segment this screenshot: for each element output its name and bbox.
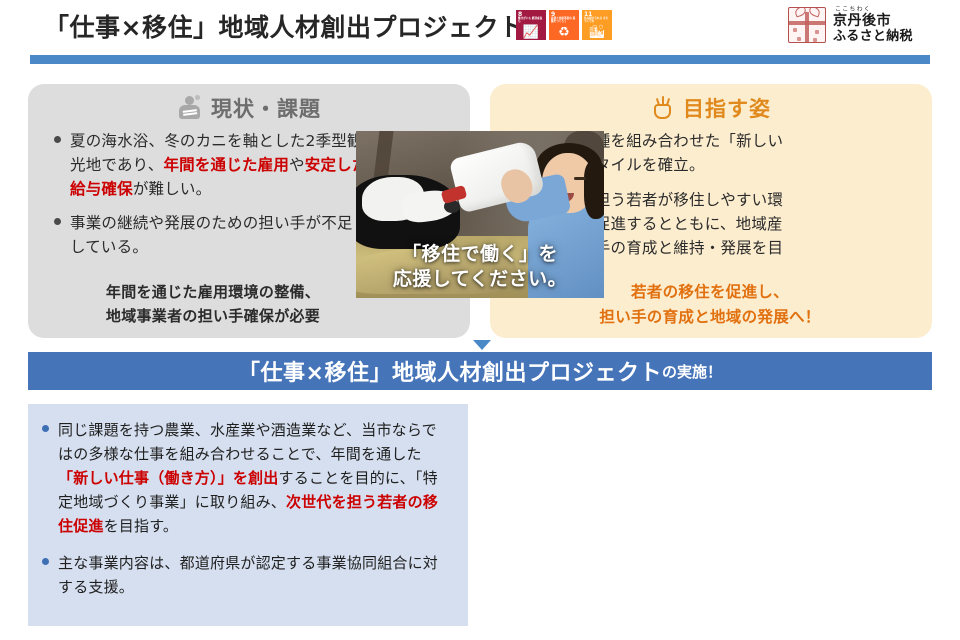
logo-ruby: ここちわく xyxy=(835,4,913,13)
sdg-chart-icon: 📈 xyxy=(516,26,546,39)
goals-heading: 目指す姿 xyxy=(490,84,932,123)
sdg-badge-9: 9 産業と技術革新の 基盤をつくろう ♻ xyxy=(549,10,579,40)
current-issues-summary: 年間を通じた雇用環境の整備、地域事業者の担い手確保が必要 xyxy=(68,280,358,328)
logo-text-block: ここちわく 京丹後市 ふるさと納税 xyxy=(833,4,913,45)
plain-text: や xyxy=(289,156,305,174)
bullet-dot xyxy=(42,425,49,432)
bullet-text: 主な事業内容は、都道府県が認定する事業協同組合に対する支援。 xyxy=(58,551,440,599)
emphasized-text: 「新しい仕事（働き方）」を創出 xyxy=(58,469,279,487)
project-details-panel: 同じ課題を持つ農業、水産業や酒造業など、当市ならではの多様な仕事を組み合わせるこ… xyxy=(28,404,468,626)
project-details-bullets: 同じ課題を持つ農業、水産業や酒造業など、当市ならではの多様な仕事を組み合わせるこ… xyxy=(28,404,468,599)
sdg-badge-11: 11 住み続けられる まちづくりを 🏙 xyxy=(582,10,612,40)
header-divider-bar xyxy=(30,55,930,64)
photo-caption-line2: 応援してください。 xyxy=(356,267,604,293)
gift-box-icon xyxy=(788,7,826,43)
photo-caption-line1: 「移住で働く」を xyxy=(356,242,604,268)
sdg-badge-label: 住み続けられる まちづくりを xyxy=(582,18,612,24)
plain-text: 同じ課題を持つ農業、水産業や酒造業など、当市ならではの多様な仕事を組み合わせるこ… xyxy=(58,421,437,463)
city-logo: ここちわく 京丹後市 ふるさと納税 xyxy=(788,4,938,48)
sdg-badge-label: 産業と技術革新の 基盤をつくろう xyxy=(549,18,579,24)
emphasized-text: 年間を通じた雇用 xyxy=(163,156,289,174)
bullet-dot xyxy=(42,558,49,565)
banner-main-label: 「仕事×移住」地域人材創出プロジェクト xyxy=(238,355,662,387)
list-item: 同じ課題を持つ農業、水産業や酒造業など、当市ならではの多様な仕事を組み合わせるこ… xyxy=(42,418,452,538)
list-item: 主な事業内容は、都道府県が認定する事業協同組合に対する支援。 xyxy=(42,551,452,599)
slide-header: 「仕事×移住」地域人材創出プロジェクト 8 働きがいも 経済成長も 📈 9 産業… xyxy=(0,0,960,50)
bullet-dot xyxy=(54,136,61,143)
banner-suffix-label: の実施！ xyxy=(662,361,722,382)
bullet-text: 夏の海水浴、冬のカニを軸とした2季型観光地であり、年間を通じた雇用や安定した給与… xyxy=(70,129,368,201)
bullet-text: 同じ課題を持つ農業、水産業や酒造業など、当市ならではの多様な仕事を組み合わせるこ… xyxy=(58,418,440,538)
plain-text: が難しい。 xyxy=(133,180,212,198)
plain-text: を目指す。 xyxy=(104,517,179,535)
project-banner: 「仕事×移住」地域人材創出プロジェクト の実施！ xyxy=(28,352,932,390)
down-arrow-icon xyxy=(473,340,491,350)
logo-city-name: 京丹後市 xyxy=(833,13,913,29)
pointing-hand-icon xyxy=(651,95,675,121)
bullet-text: 事業の継続や発展のための担い手が不足している。 xyxy=(70,211,368,259)
sdg-city-icon: 🏙 xyxy=(582,26,612,39)
current-issues-heading-label: 現状・課題 xyxy=(211,93,321,123)
slide-root: 「仕事×移住」地域人材創出プロジェクト 8 働きがいも 経済成長も 📈 9 産業… xyxy=(0,0,960,640)
worried-person-icon xyxy=(177,95,203,121)
sdg-badge-label: 働きがいも 経済成長も xyxy=(516,18,546,24)
logo-program-name: ふるさと納税 xyxy=(833,29,913,45)
sdg-badge-8: 8 働きがいも 経済成長も 📈 xyxy=(516,10,546,40)
goals-heading-label: 目指す姿 xyxy=(683,93,771,123)
photo-caption-overlay: 「移住で働く」を 応援してください。 xyxy=(356,242,604,293)
plain-text: 事業の継続や発展のための担い手が不足している。 xyxy=(70,214,353,256)
page-title: 「仕事×移住」地域人材創出プロジェクト xyxy=(44,8,524,44)
calf-feeding-photo: 「移住で働く」を 応援してください。 xyxy=(356,131,604,298)
current-issues-heading: 現状・課題 xyxy=(28,84,470,123)
sdg-gears-icon: ♻ xyxy=(549,26,579,39)
plain-text: 主な事業内容は、都道府県が認定する事業協同組合に対する支援。 xyxy=(58,554,438,596)
bullet-dot xyxy=(54,218,61,225)
results-panel: 働くことは暮らすこと。 マルチワーカーは酒造業、農業、飲食業に従事。 労働力不足… xyxy=(472,404,932,626)
sdg-badge-group: 8 働きがいも 経済成長も 📈 9 産業と技術革新の 基盤をつくろう ♻ 11 … xyxy=(516,10,612,40)
